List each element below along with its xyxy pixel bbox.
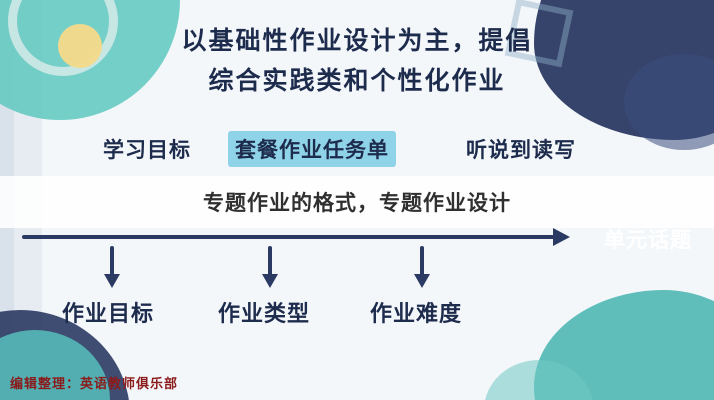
arrow-shaft — [420, 246, 424, 276]
down-arrow-3-icon — [414, 246, 430, 288]
label-set-menu-task-sheet: 套餐作业任务单 — [228, 131, 396, 167]
top-label-row: 学习目标 套餐作业任务单 听说到读写 — [0, 132, 714, 166]
screenshot-canvas: 以基础性作业设计为主，提倡 综合实践类和个性化作业 学习目标 套餐作业任务单 听… — [0, 0, 714, 400]
arrow-shaft — [22, 235, 556, 239]
credit-watermark: 编辑整理：英语教师俱乐部 — [10, 373, 178, 392]
arrow-head-down-icon — [262, 274, 278, 288]
label-unit-topic: 单元话题 — [604, 224, 692, 254]
down-arrow-1-icon — [104, 246, 120, 288]
arrow-shaft — [268, 246, 272, 276]
label-homework-objective: 作业目标 — [62, 296, 154, 328]
horizontal-arrow — [22, 232, 570, 242]
caption-overlay-band: 专题作业的格式，专题作业设计 — [0, 176, 714, 228]
label-homework-type: 作业类型 — [218, 296, 310, 328]
label-learning-goal: 学习目标 — [103, 134, 191, 164]
caption-text: 专题作业的格式，专题作业设计 — [203, 187, 511, 217]
down-arrow-2-icon — [262, 246, 278, 288]
headline-line-1: 以基础性作业设计为主，提倡 — [0, 24, 714, 58]
headline: 以基础性作业设计为主，提倡 综合实践类和个性化作业 — [0, 24, 714, 98]
arrow-shaft — [110, 246, 114, 276]
arrow-head-down-icon — [104, 274, 120, 288]
headline-line-2: 综合实践类和个性化作业 — [0, 64, 714, 98]
arrow-head-right-icon — [553, 228, 570, 246]
label-homework-difficulty: 作业难度 — [370, 296, 462, 328]
arrow-head-down-icon — [414, 274, 430, 288]
label-listening-speaking-reading-writing: 听说到读写 — [466, 134, 576, 164]
